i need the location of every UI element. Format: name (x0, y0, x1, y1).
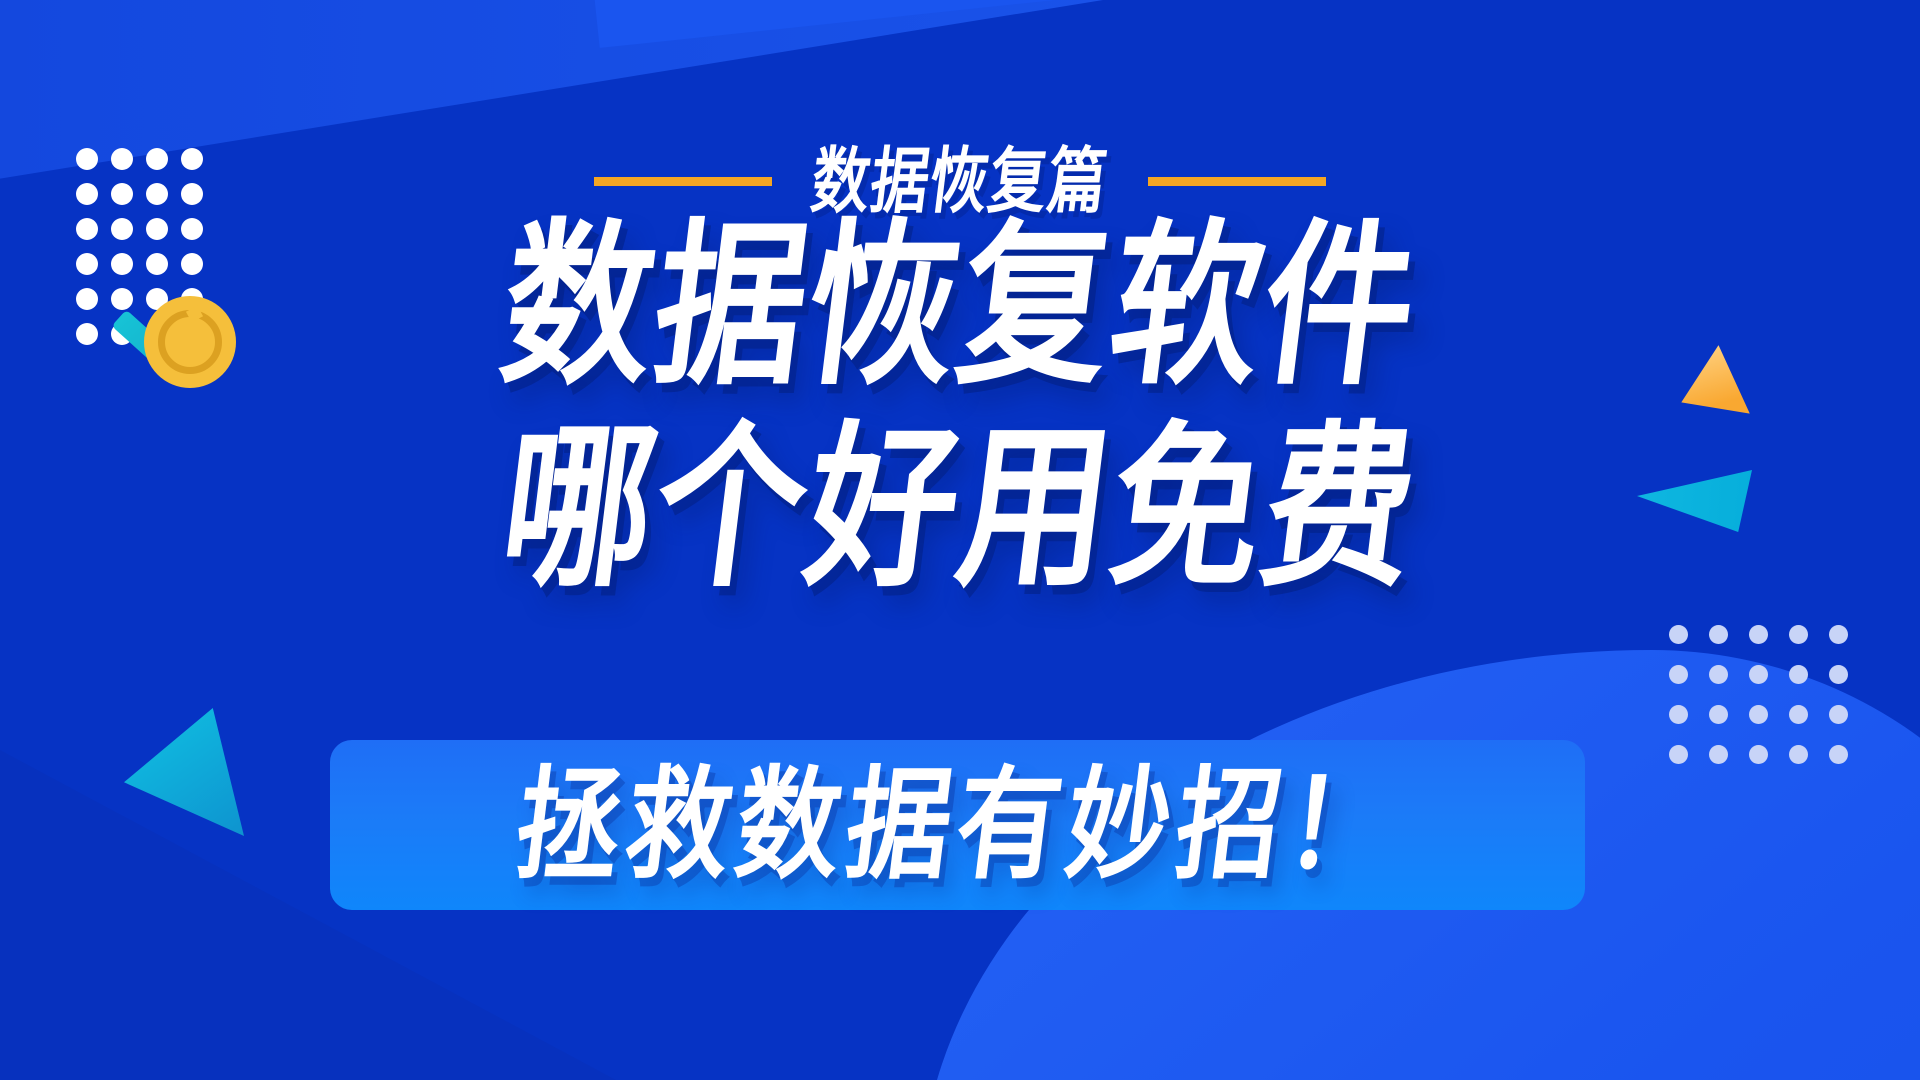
grid-dot (1709, 625, 1728, 644)
subtitle-row: 数据恢复篇 (0, 152, 1920, 210)
grid-dot (1709, 705, 1728, 724)
title-line-2: 哪个好用免费 (0, 421, 1920, 598)
title-line-1: 数据恢复软件 (0, 219, 1920, 396)
grid-dot (1749, 665, 1768, 684)
grid-dot (1749, 745, 1768, 764)
main-title: 数据恢复软件 哪个好用免费 (0, 232, 1920, 584)
subtitle-dash-left (594, 177, 772, 186)
tagline-banner: 拯救数据有妙招！ (330, 740, 1585, 910)
dot-grid-right (1669, 625, 1848, 764)
grid-dot (1669, 665, 1688, 684)
grid-dot (1709, 665, 1728, 684)
poster-canvas: 数据恢复篇 数据恢复软件 哪个好用免费 拯救数据有妙招！ (0, 0, 1920, 1080)
grid-dot (1829, 665, 1848, 684)
grid-dot (1829, 745, 1848, 764)
grid-dot (1789, 665, 1808, 684)
grid-dot (1829, 625, 1848, 644)
grid-dot (1789, 745, 1808, 764)
grid-dot (1709, 745, 1728, 764)
grid-dot (1749, 705, 1768, 724)
grid-dot (1789, 625, 1808, 644)
grid-dot (1789, 705, 1808, 724)
grid-dot (1829, 705, 1848, 724)
subtitle-dash-right (1148, 177, 1326, 186)
grid-dot (1669, 745, 1688, 764)
grid-dot (1749, 625, 1768, 644)
grid-dot (1669, 705, 1688, 724)
grid-dot (1669, 625, 1688, 644)
tagline-text: 拯救数据有妙招！ (510, 764, 1405, 886)
